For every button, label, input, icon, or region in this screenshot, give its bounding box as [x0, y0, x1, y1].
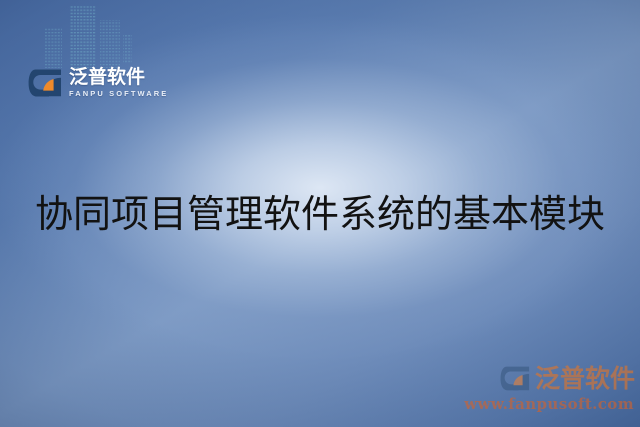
watermark-logo-row: 泛普软件: [500, 365, 635, 392]
fanpu-swoosh-logo-icon: [500, 365, 530, 392]
banner-image: 泛普软件 FANPU SOFTWARE 协同项目管理软件系统的基本模块 泛普软件…: [0, 0, 640, 427]
watermark-name-cn: 泛普软件: [535, 366, 635, 391]
watermark-bottom-right: 泛普软件 www.fanpusoft.com: [464, 365, 635, 413]
brand-logo-top-left: 泛普软件 FANPU SOFTWARE: [28, 68, 168, 98]
brand-wordmark: 泛普软件 FANPU SOFTWARE: [69, 68, 168, 98]
page-title: 协同项目管理软件系统的基本模块: [0, 192, 640, 236]
brand-name-cn: 泛普软件: [69, 68, 168, 87]
mosaic-skyline-pattern-icon: [45, 0, 155, 70]
fanpu-swoosh-logo-icon: [28, 68, 62, 98]
watermark-url: www.fanpusoft.com: [464, 395, 634, 413]
brand-name-en: FANPU SOFTWARE: [69, 90, 168, 98]
